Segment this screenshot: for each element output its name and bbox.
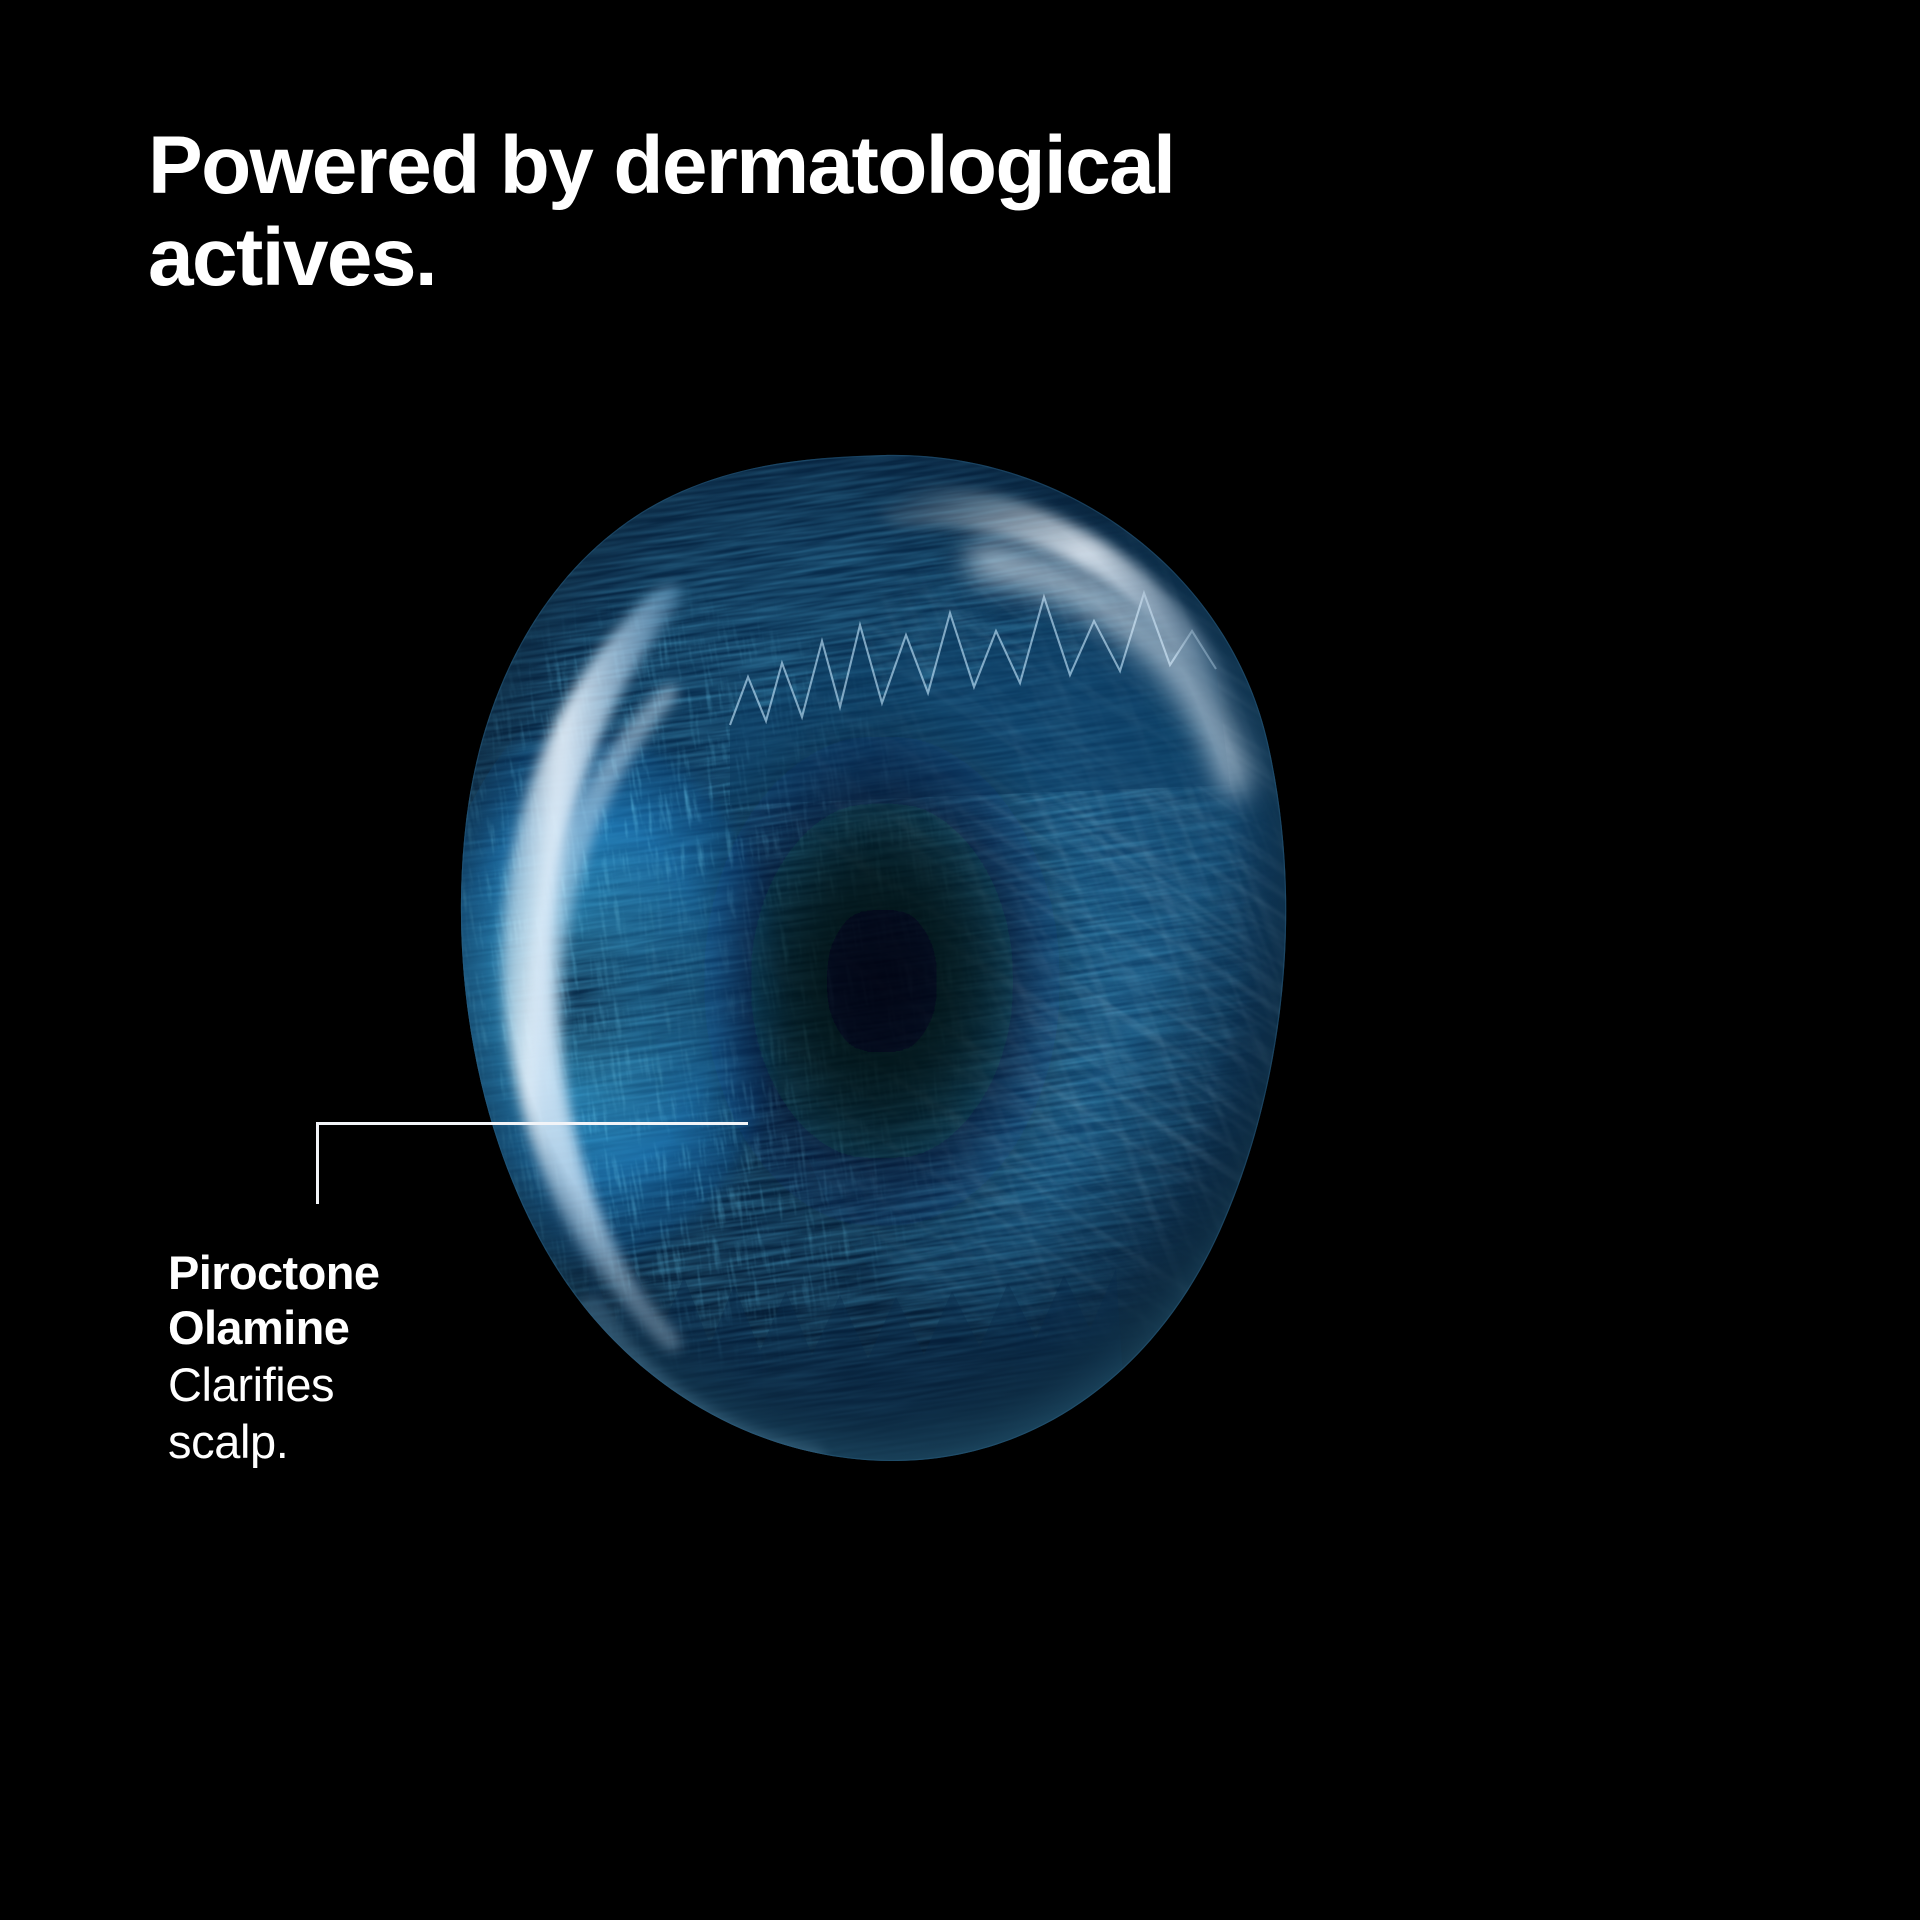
orb-left-crescent-inner: [534, 685, 680, 1351]
page-title: Powered by dermatological actives.: [148, 120, 1548, 304]
orb-base-fill: [430, 425, 1310, 1485]
orb-left-crescent: [501, 584, 687, 1357]
orb-body: [430, 425, 1310, 1485]
ingredient-name: Piroctone Olamine: [168, 1245, 498, 1356]
orb-streaks: [430, 425, 1310, 1485]
ingredient-callout: Piroctone Olamine Clarifies scalp.: [168, 1245, 498, 1471]
poster-canvas: Powered by dermatological actives.: [0, 0, 1920, 1920]
orb-fiber-texture: [430, 425, 1310, 1485]
orb-top-gloss-inner: [967, 543, 1253, 797]
ingredient-orb-visual: [430, 425, 1310, 1485]
callout-leader-line: [316, 1122, 748, 1204]
orb-top-gloss: [877, 485, 1245, 729]
orb-illustration: [430, 425, 1310, 1485]
orb-bottom-sheen: [577, 1296, 825, 1469]
ingredient-benefit: Clarifies scalp.: [168, 1356, 498, 1471]
orb-bottom-crystals: [580, 1265, 1130, 1485]
orb-outline: [461, 455, 1286, 1461]
orb-drapery: [770, 515, 1310, 1375]
orb-crystal-crest: [730, 593, 1230, 805]
leader-vertical-segment: [316, 1122, 319, 1204]
orb-crystal-burst: [430, 625, 1152, 1485]
leader-horizontal-segment: [316, 1122, 748, 1125]
orb-glass-shell: [430, 425, 1310, 1485]
